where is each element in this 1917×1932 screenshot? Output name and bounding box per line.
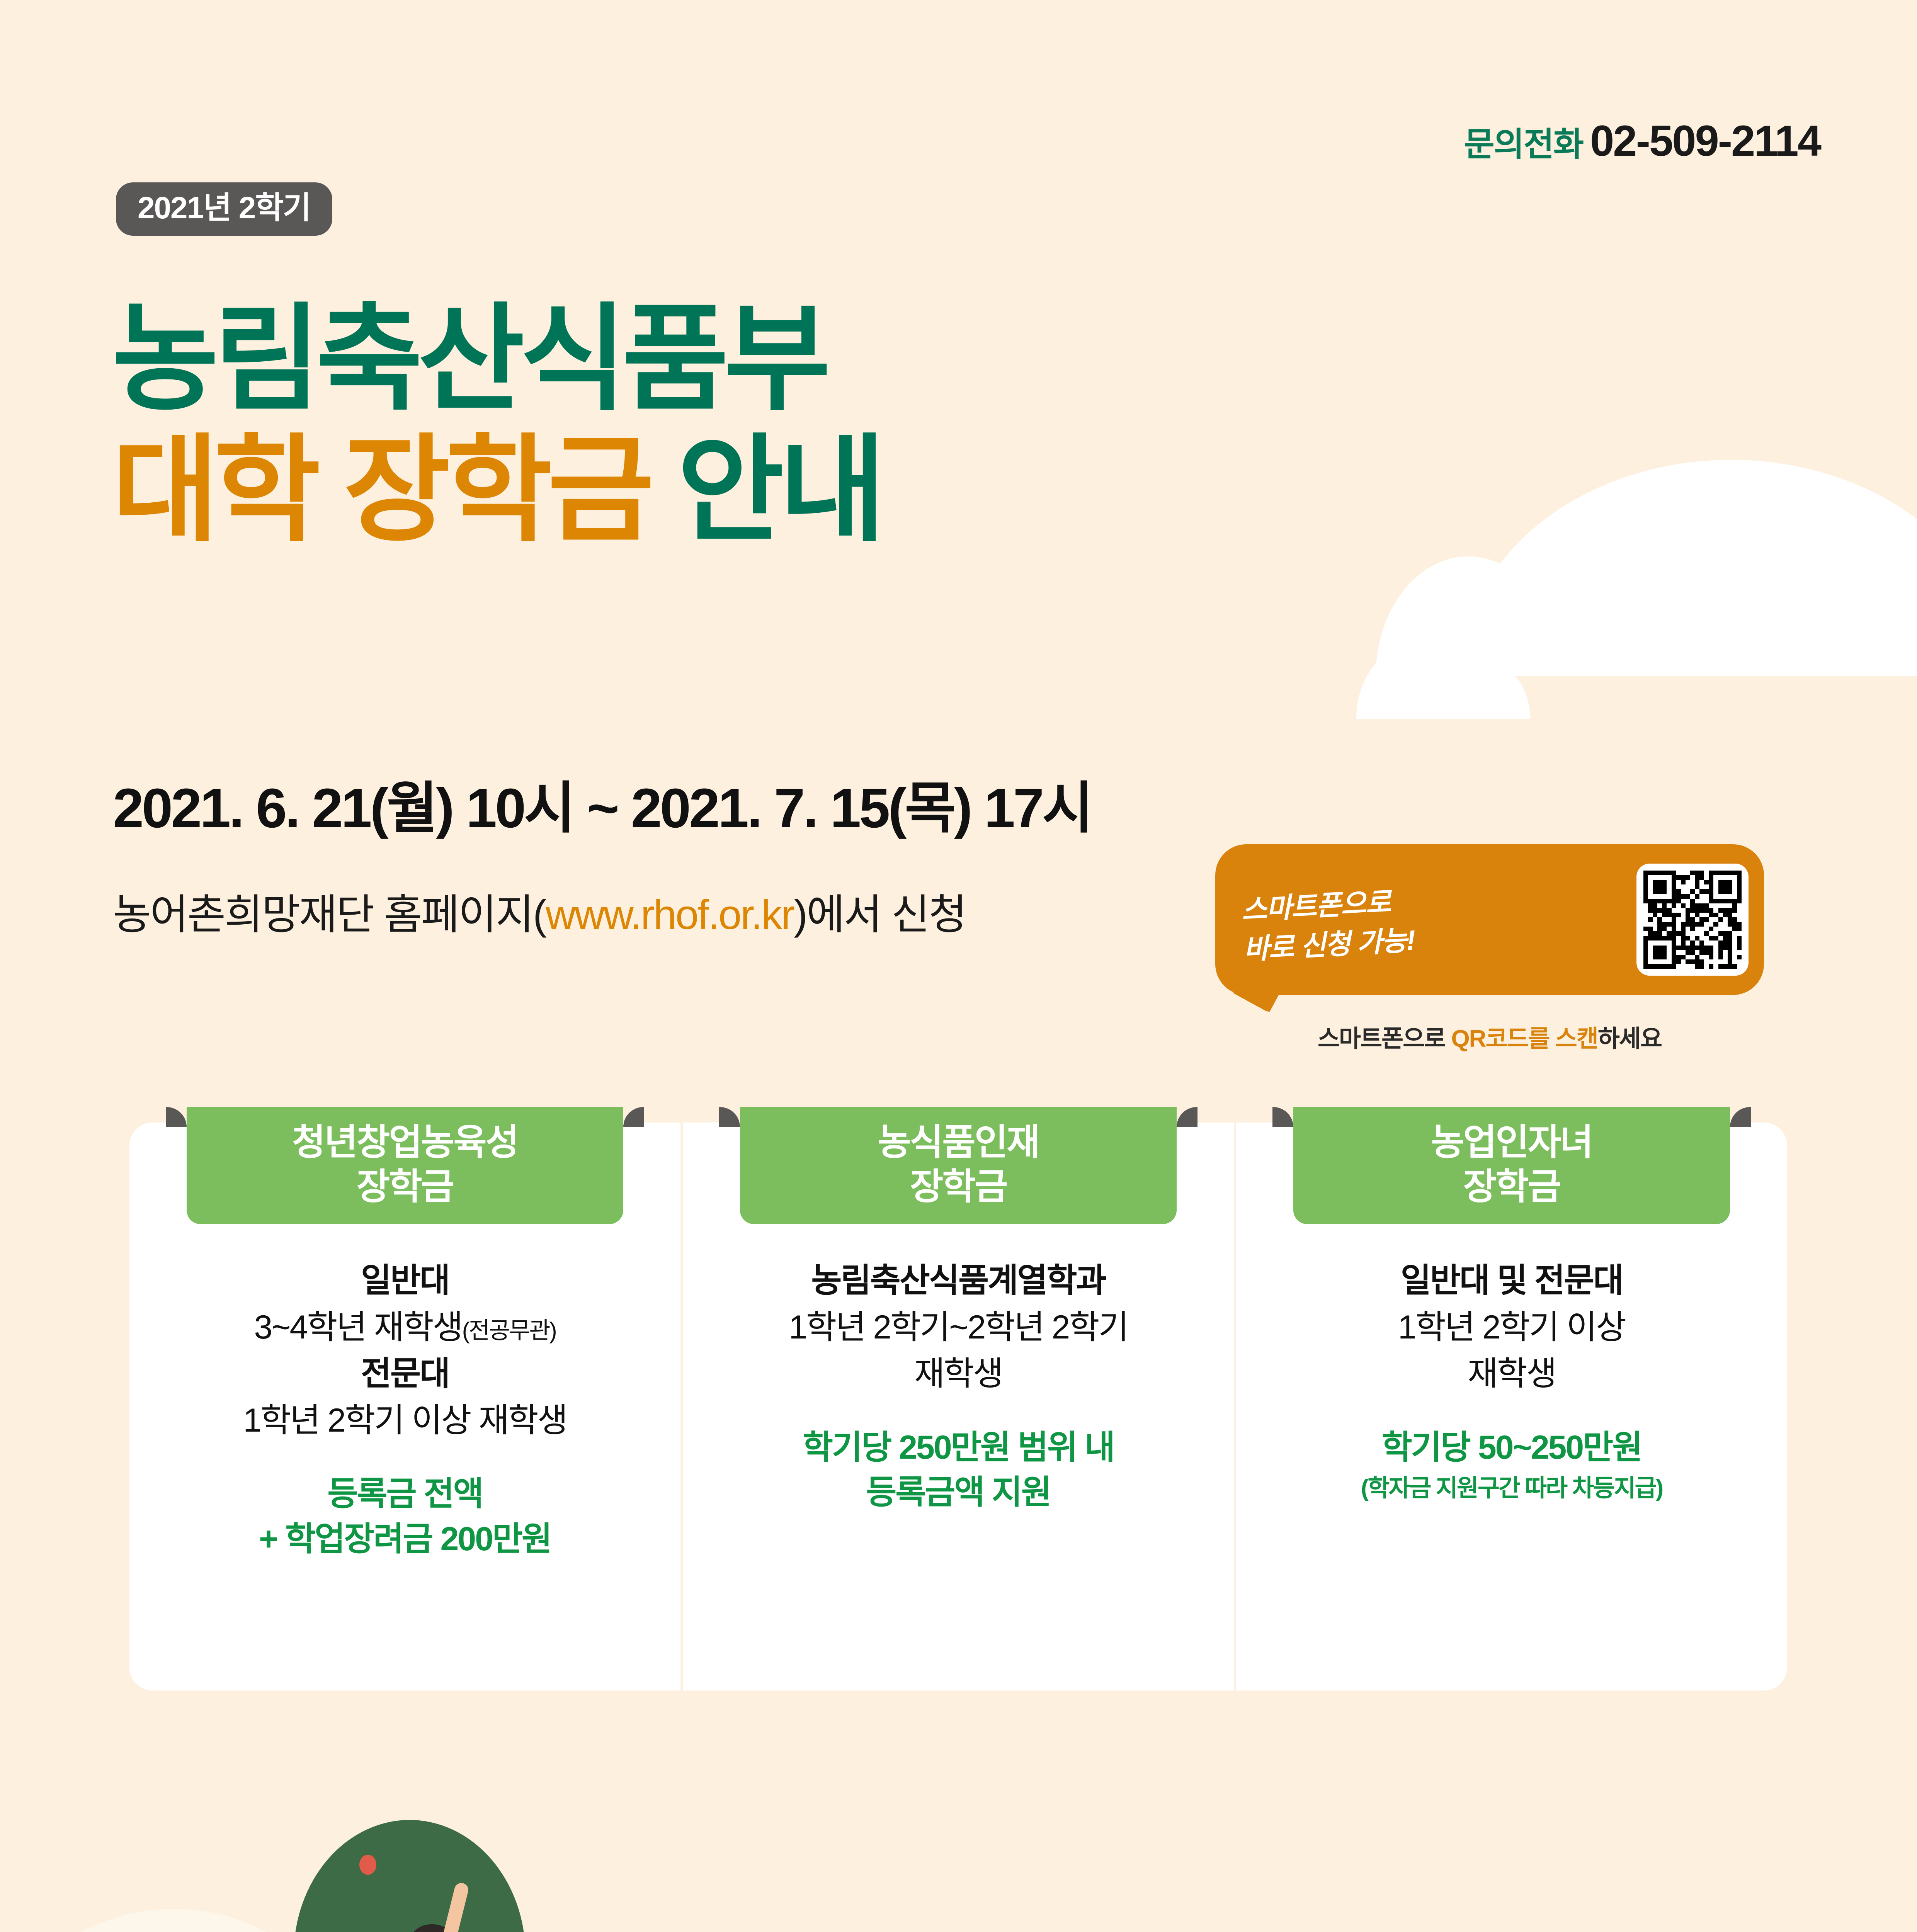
qr-module	[1737, 889, 1742, 894]
qr-module	[1667, 946, 1671, 950]
title-line-2: 대학 장학금 안내	[112, 425, 881, 556]
award-amount-line-2: + 학업장려금 200만원	[145, 1517, 665, 1562]
qr-module	[1648, 913, 1653, 917]
qr-module	[1728, 927, 1732, 931]
qr-module	[1699, 913, 1704, 917]
eligibility-note: (전공무관)	[462, 1318, 556, 1344]
qr-module	[1667, 959, 1671, 964]
qr-module	[1695, 922, 1699, 927]
eligibility-line: 재학생	[698, 1350, 1218, 1397]
eligibility-line: 1학년 2학기~2학년 2학기	[698, 1304, 1218, 1350]
qr-module	[1723, 894, 1728, 898]
qr-module	[1648, 931, 1653, 936]
qr-module	[1699, 946, 1704, 950]
qr-module	[1723, 880, 1728, 884]
qr-module	[1704, 927, 1709, 931]
qr-module	[1653, 871, 1657, 875]
qr-module	[1662, 917, 1667, 922]
qr-module	[1704, 880, 1709, 884]
qr-module	[1648, 922, 1653, 927]
qr-module	[1648, 880, 1653, 884]
qr-module	[1718, 908, 1723, 913]
qr-module	[1657, 899, 1662, 903]
qr-module	[1667, 913, 1671, 917]
qr-module	[1686, 927, 1690, 931]
qr-module	[1648, 875, 1653, 880]
qr-module	[1695, 927, 1699, 931]
qr-module	[1699, 950, 1704, 955]
qr-module	[1643, 940, 1648, 945]
scholarship-panel: 청년창업농육성장학금일반대3~4학년 재학생(전공무관)전문대1학년 2학기 이…	[129, 1122, 1787, 1690]
qr-module	[1690, 940, 1695, 945]
scholarship-column-2: 농식품인재장학금농림축산식품계열학과1학년 2학기~2학년 2학기재학생학기당 …	[680, 1122, 1234, 1690]
eligibility-line: 전문대	[145, 1350, 665, 1397]
qr-module	[1737, 903, 1742, 908]
qr-module	[1704, 884, 1709, 889]
qr-module	[1713, 940, 1718, 945]
qr-module	[1643, 871, 1648, 875]
qr-module	[1672, 950, 1676, 955]
qr-module	[1704, 931, 1709, 936]
application-period: 2021. 6. 21(월) 10시 ~ 2021. 7. 15(목) 17시	[113, 763, 1091, 844]
qr-module	[1732, 884, 1737, 889]
qr-module	[1676, 959, 1681, 964]
qr-module	[1695, 946, 1699, 950]
qr-module	[1699, 889, 1704, 894]
qr-module	[1686, 875, 1690, 880]
qr-caption: 스마트폰으로 QR코드를 스캔하세요	[1215, 1019, 1764, 1054]
qr-module	[1718, 950, 1723, 955]
eligibility-line: 일반대	[145, 1257, 665, 1304]
award-amount-note: (학자금 지원구간 따라 차등지급)	[1252, 1472, 1772, 1505]
qr-module	[1667, 931, 1671, 936]
qr-module	[1676, 880, 1681, 884]
qr-module	[1657, 940, 1662, 945]
qr-module	[1728, 964, 1732, 969]
qr-module	[1672, 955, 1676, 959]
qr-module	[1667, 871, 1671, 875]
qr-module	[1648, 936, 1653, 940]
qr-module	[1662, 884, 1667, 889]
qr-module	[1728, 908, 1732, 913]
qr-module	[1699, 931, 1704, 936]
eligibility-text: 일반대	[361, 1262, 449, 1299]
qr-module	[1695, 913, 1699, 917]
qr-module	[1737, 913, 1742, 917]
qr-module	[1657, 927, 1662, 931]
qr-module	[1704, 899, 1709, 903]
page-title: 농림축산식품부 대학 장학금 안내	[112, 294, 881, 556]
qr-module	[1699, 955, 1704, 959]
qr-module	[1657, 936, 1662, 940]
qr-module	[1699, 940, 1704, 945]
qr-module	[1723, 871, 1728, 875]
qr-module	[1643, 884, 1648, 889]
qr-module	[1699, 927, 1704, 931]
qr-module	[1728, 875, 1732, 880]
qr-module	[1732, 913, 1737, 917]
qr-module	[1676, 927, 1681, 931]
qr-module	[1667, 894, 1671, 898]
qr-module	[1662, 894, 1667, 898]
qr-module	[1681, 908, 1686, 913]
qr-module	[1704, 889, 1709, 894]
qr-module	[1681, 946, 1686, 950]
qr-module	[1657, 955, 1662, 959]
qr-module	[1667, 955, 1671, 959]
qr-module	[1662, 955, 1667, 959]
qr-module	[1653, 955, 1657, 959]
qr-module	[1737, 884, 1742, 889]
qr-module	[1732, 903, 1737, 908]
qr-module	[1657, 946, 1662, 950]
qr-module	[1695, 899, 1699, 903]
qr-module	[1709, 927, 1713, 931]
qr-module	[1699, 884, 1704, 889]
qr-module	[1657, 894, 1662, 898]
qr-module	[1643, 913, 1648, 917]
qr-module	[1686, 903, 1690, 908]
qr-module	[1737, 880, 1742, 884]
qr-module	[1728, 959, 1732, 964]
award-amount-line-1: 등록금 전액	[145, 1471, 665, 1517]
qr-module	[1681, 899, 1686, 903]
qr-module	[1662, 946, 1667, 950]
qr-module	[1686, 894, 1690, 898]
qr-module	[1690, 903, 1695, 908]
qr-module	[1690, 950, 1695, 955]
scholarship-title-line-1: 농식품인재	[744, 1120, 1173, 1165]
qr-module	[1728, 889, 1732, 894]
qr-module	[1709, 884, 1713, 889]
qr-module	[1686, 913, 1690, 917]
scholarship-poster: 문의전화 02-509-2114 2021년 2학기 농림축산식품부 대학 장학…	[0, 0, 1917, 1932]
qr-module	[1667, 922, 1671, 927]
qr-module	[1723, 955, 1728, 959]
qr-module	[1686, 889, 1690, 894]
qr-module	[1699, 875, 1704, 880]
award-amount: 학기당 250만원 범위 내등록금액 지원	[698, 1425, 1218, 1515]
qr-module	[1676, 936, 1681, 940]
qr-module	[1718, 880, 1723, 884]
qr-module	[1643, 889, 1648, 894]
qr-module	[1676, 950, 1681, 955]
qr-module	[1657, 875, 1662, 880]
qr-module	[1718, 913, 1723, 917]
qr-module	[1686, 950, 1690, 955]
qr-module	[1681, 880, 1686, 884]
qr-module	[1676, 955, 1681, 959]
qr-module	[1709, 955, 1713, 959]
scholarship-body: 일반대3~4학년 재학생(전공무관)전문대1학년 2학기 이상 재학생등록금 전…	[145, 1257, 665, 1561]
qr-module	[1648, 903, 1653, 908]
qr-module	[1672, 936, 1676, 940]
qr-module	[1662, 927, 1667, 931]
qr-module	[1713, 950, 1718, 955]
qr-module	[1723, 964, 1728, 969]
qr-module	[1732, 871, 1737, 875]
qr-module	[1699, 922, 1704, 927]
qr-module	[1713, 964, 1718, 969]
qr-module	[1728, 903, 1732, 908]
qr-module	[1704, 955, 1709, 959]
qr-module	[1699, 899, 1704, 903]
qr-module	[1681, 922, 1686, 927]
qr-module	[1723, 927, 1728, 931]
qr-module	[1718, 889, 1723, 894]
qr-module	[1737, 959, 1742, 964]
scholarship-column-3: 농업인자녀장학금일반대 및 전문대1학년 2학기 이상재학생학기당 50~250…	[1234, 1122, 1787, 1690]
qr-module	[1718, 875, 1723, 880]
qr-module	[1676, 917, 1681, 922]
qr-module	[1737, 899, 1742, 903]
qr-module	[1672, 871, 1676, 875]
qr-module	[1667, 889, 1671, 894]
qr-module	[1653, 899, 1657, 903]
qr-module	[1732, 931, 1737, 936]
qr-module	[1672, 964, 1676, 969]
qr-module	[1690, 936, 1695, 940]
qr-module	[1728, 922, 1732, 927]
qr-module	[1662, 875, 1667, 880]
site-url[interactable]: www.rhof.or.kr	[546, 891, 794, 938]
qr-caption-bold: QR코드를 스캔	[1451, 1026, 1597, 1052]
scholarship-title: 농식품인재장학금	[740, 1107, 1177, 1224]
qr-module	[1648, 940, 1653, 945]
eligibility-text: 재학생	[1468, 1355, 1556, 1392]
eligibility-block: 농림축산식품계열학과1학년 2학기~2학년 2학기재학생	[698, 1257, 1218, 1397]
qr-module	[1723, 940, 1728, 945]
qr-module	[1681, 936, 1686, 940]
qr-module	[1704, 936, 1709, 940]
qr-module	[1690, 927, 1695, 931]
qr-module	[1672, 880, 1676, 884]
qr-bubble-text: 스마트폰으로 바로 신청 가능!	[1240, 870, 1623, 970]
scholarship-title: 농업인자녀장학금	[1293, 1107, 1730, 1224]
qr-module	[1737, 875, 1742, 880]
qr-module	[1676, 964, 1681, 969]
qr-module	[1676, 889, 1681, 894]
scholarship-body: 농림축산식품계열학과1학년 2학기~2학년 2학기재학생학기당 250만원 범위…	[698, 1257, 1218, 1515]
qr-caption-suffix: 하세요	[1598, 1026, 1662, 1052]
qr-module	[1695, 931, 1699, 936]
qr-module	[1676, 894, 1681, 898]
qr-module	[1728, 946, 1732, 950]
qr-module	[1699, 936, 1704, 940]
qr-module	[1695, 955, 1699, 959]
eligibility-text: 1학년 2학기 이상 재학생	[243, 1402, 566, 1439]
qr-module	[1643, 922, 1648, 927]
qr-module	[1667, 875, 1671, 880]
eligibility-block: 일반대 및 전문대1학년 2학기 이상재학생	[1252, 1257, 1772, 1397]
qr-module	[1672, 917, 1676, 922]
qr-module	[1676, 903, 1681, 908]
qr-module	[1690, 946, 1695, 950]
qr-module	[1662, 871, 1667, 875]
qr-module	[1662, 959, 1667, 964]
qr-module	[1695, 875, 1699, 880]
qr-module	[1667, 884, 1671, 889]
qr-module	[1690, 964, 1695, 969]
qr-module	[1672, 889, 1676, 894]
qr-module	[1681, 913, 1686, 917]
qr-module	[1681, 884, 1686, 889]
qr-module	[1653, 884, 1657, 889]
qr-module	[1681, 894, 1686, 898]
qr-module	[1737, 931, 1742, 936]
qr-module	[1690, 889, 1695, 894]
scholarship-title-line-2: 장학금	[744, 1165, 1173, 1209]
qr-module	[1653, 950, 1657, 955]
qr-module	[1643, 875, 1648, 880]
qr-module	[1657, 871, 1662, 875]
qr-module	[1690, 871, 1695, 875]
title-line-1: 농림축산식품부	[112, 294, 881, 425]
qr-module	[1657, 922, 1662, 927]
qr-module	[1672, 903, 1676, 908]
qr-module	[1718, 917, 1723, 922]
qr-module	[1681, 871, 1686, 875]
qr-module	[1676, 931, 1681, 936]
qr-module	[1643, 946, 1648, 950]
qr-module	[1723, 950, 1728, 955]
eligibility-line: 1학년 2학기 이상 재학생	[145, 1397, 665, 1444]
qr-module	[1695, 871, 1699, 875]
qr-module	[1728, 936, 1732, 940]
qr-module	[1699, 959, 1704, 964]
qr-module	[1662, 899, 1667, 903]
qr-module	[1709, 889, 1713, 894]
qr-module	[1728, 931, 1732, 936]
qr-module	[1686, 936, 1690, 940]
qr-module	[1737, 940, 1742, 945]
qr-module	[1737, 927, 1742, 931]
qr-module	[1643, 959, 1648, 964]
eligibility-line: 1학년 2학기 이상	[1252, 1304, 1772, 1350]
qr-module	[1709, 871, 1713, 875]
eligibility-text: 1학년 2학기 이상	[1398, 1309, 1625, 1346]
qr-module	[1695, 884, 1699, 889]
qr-module	[1686, 922, 1690, 927]
qr-module	[1704, 903, 1709, 908]
qr-module	[1662, 880, 1667, 884]
qr-module	[1648, 917, 1653, 922]
qr-module	[1648, 946, 1653, 950]
qr-module	[1728, 950, 1732, 955]
qr-module	[1686, 880, 1690, 884]
qr-module	[1732, 964, 1737, 969]
qr-module	[1695, 964, 1699, 969]
qr-module	[1723, 936, 1728, 940]
qr-module	[1672, 894, 1676, 898]
scholarship-body: 일반대 및 전문대1학년 2학기 이상재학생학기당 50~250만원(학자금 지…	[1252, 1257, 1772, 1505]
qr-module	[1648, 889, 1653, 894]
scholarship-title: 청년창업농육성장학금	[187, 1107, 623, 1224]
qr-module	[1723, 903, 1728, 908]
qr-module	[1662, 931, 1667, 936]
qr-module	[1713, 871, 1718, 875]
farm-illustration	[0, 1731, 1917, 1932]
qr-module	[1662, 936, 1667, 940]
qr-module	[1732, 946, 1737, 950]
qr-module	[1713, 875, 1718, 880]
qr-module	[1676, 946, 1681, 950]
qr-module	[1672, 940, 1676, 945]
qr-module	[1723, 959, 1728, 964]
qr-module	[1676, 875, 1681, 880]
eligibility-text: 전문대	[361, 1355, 449, 1392]
qr-module	[1681, 889, 1686, 894]
qr-module	[1653, 936, 1657, 940]
qr-module	[1713, 903, 1718, 908]
qr-module	[1690, 899, 1695, 903]
qr-module	[1732, 959, 1737, 964]
qr-module	[1728, 871, 1732, 875]
qr-module	[1672, 927, 1676, 931]
qr-module	[1709, 894, 1713, 898]
qr-module	[1704, 917, 1709, 922]
qr-module	[1695, 889, 1699, 894]
qr-module	[1662, 889, 1667, 894]
qr-module	[1699, 903, 1704, 908]
qr-module	[1657, 880, 1662, 884]
qr-code[interactable]	[1636, 864, 1749, 976]
qr-module	[1653, 927, 1657, 931]
qr-module	[1653, 875, 1657, 880]
qr-module	[1672, 959, 1676, 964]
qr-module	[1667, 927, 1671, 931]
qr-module	[1648, 871, 1653, 875]
qr-module	[1699, 894, 1704, 898]
qr-module	[1732, 922, 1737, 927]
award-amount: 등록금 전액+ 학업장려금 200만원	[145, 1471, 665, 1562]
qr-module	[1653, 940, 1657, 945]
qr-module	[1657, 903, 1662, 908]
qr-module	[1718, 927, 1723, 931]
qr-module	[1676, 908, 1681, 913]
qr-module	[1704, 964, 1709, 969]
qr-module	[1737, 955, 1742, 959]
qr-module	[1723, 931, 1728, 936]
qr-module	[1709, 922, 1713, 927]
qr-module	[1686, 908, 1690, 913]
qr-module	[1737, 871, 1742, 875]
scholarship-title-line-2: 장학금	[1297, 1165, 1726, 1209]
qr-module	[1662, 940, 1667, 945]
qr-module	[1657, 913, 1662, 917]
qr-module	[1718, 899, 1723, 903]
qr-module	[1718, 871, 1723, 875]
qr-module	[1709, 913, 1713, 917]
qr-module	[1709, 899, 1713, 903]
qr-module	[1699, 908, 1704, 913]
qr-module	[1662, 913, 1667, 917]
qr-module	[1704, 908, 1709, 913]
qr-module	[1681, 875, 1686, 880]
qr-speech-bubble: 스마트폰으로 바로 신청 가능!	[1215, 844, 1764, 995]
qr-module	[1676, 884, 1681, 889]
qr-module	[1667, 908, 1671, 913]
qr-module	[1737, 950, 1742, 955]
phone-number: 02-509-2114	[1590, 116, 1820, 166]
qr-module	[1713, 917, 1718, 922]
qr-module	[1676, 940, 1681, 945]
qr-module	[1667, 950, 1671, 955]
qr-module	[1681, 927, 1686, 931]
eligibility-text: 3~4학년 재학생	[254, 1309, 462, 1346]
qr-module	[1667, 964, 1671, 969]
qr-module	[1713, 913, 1718, 917]
